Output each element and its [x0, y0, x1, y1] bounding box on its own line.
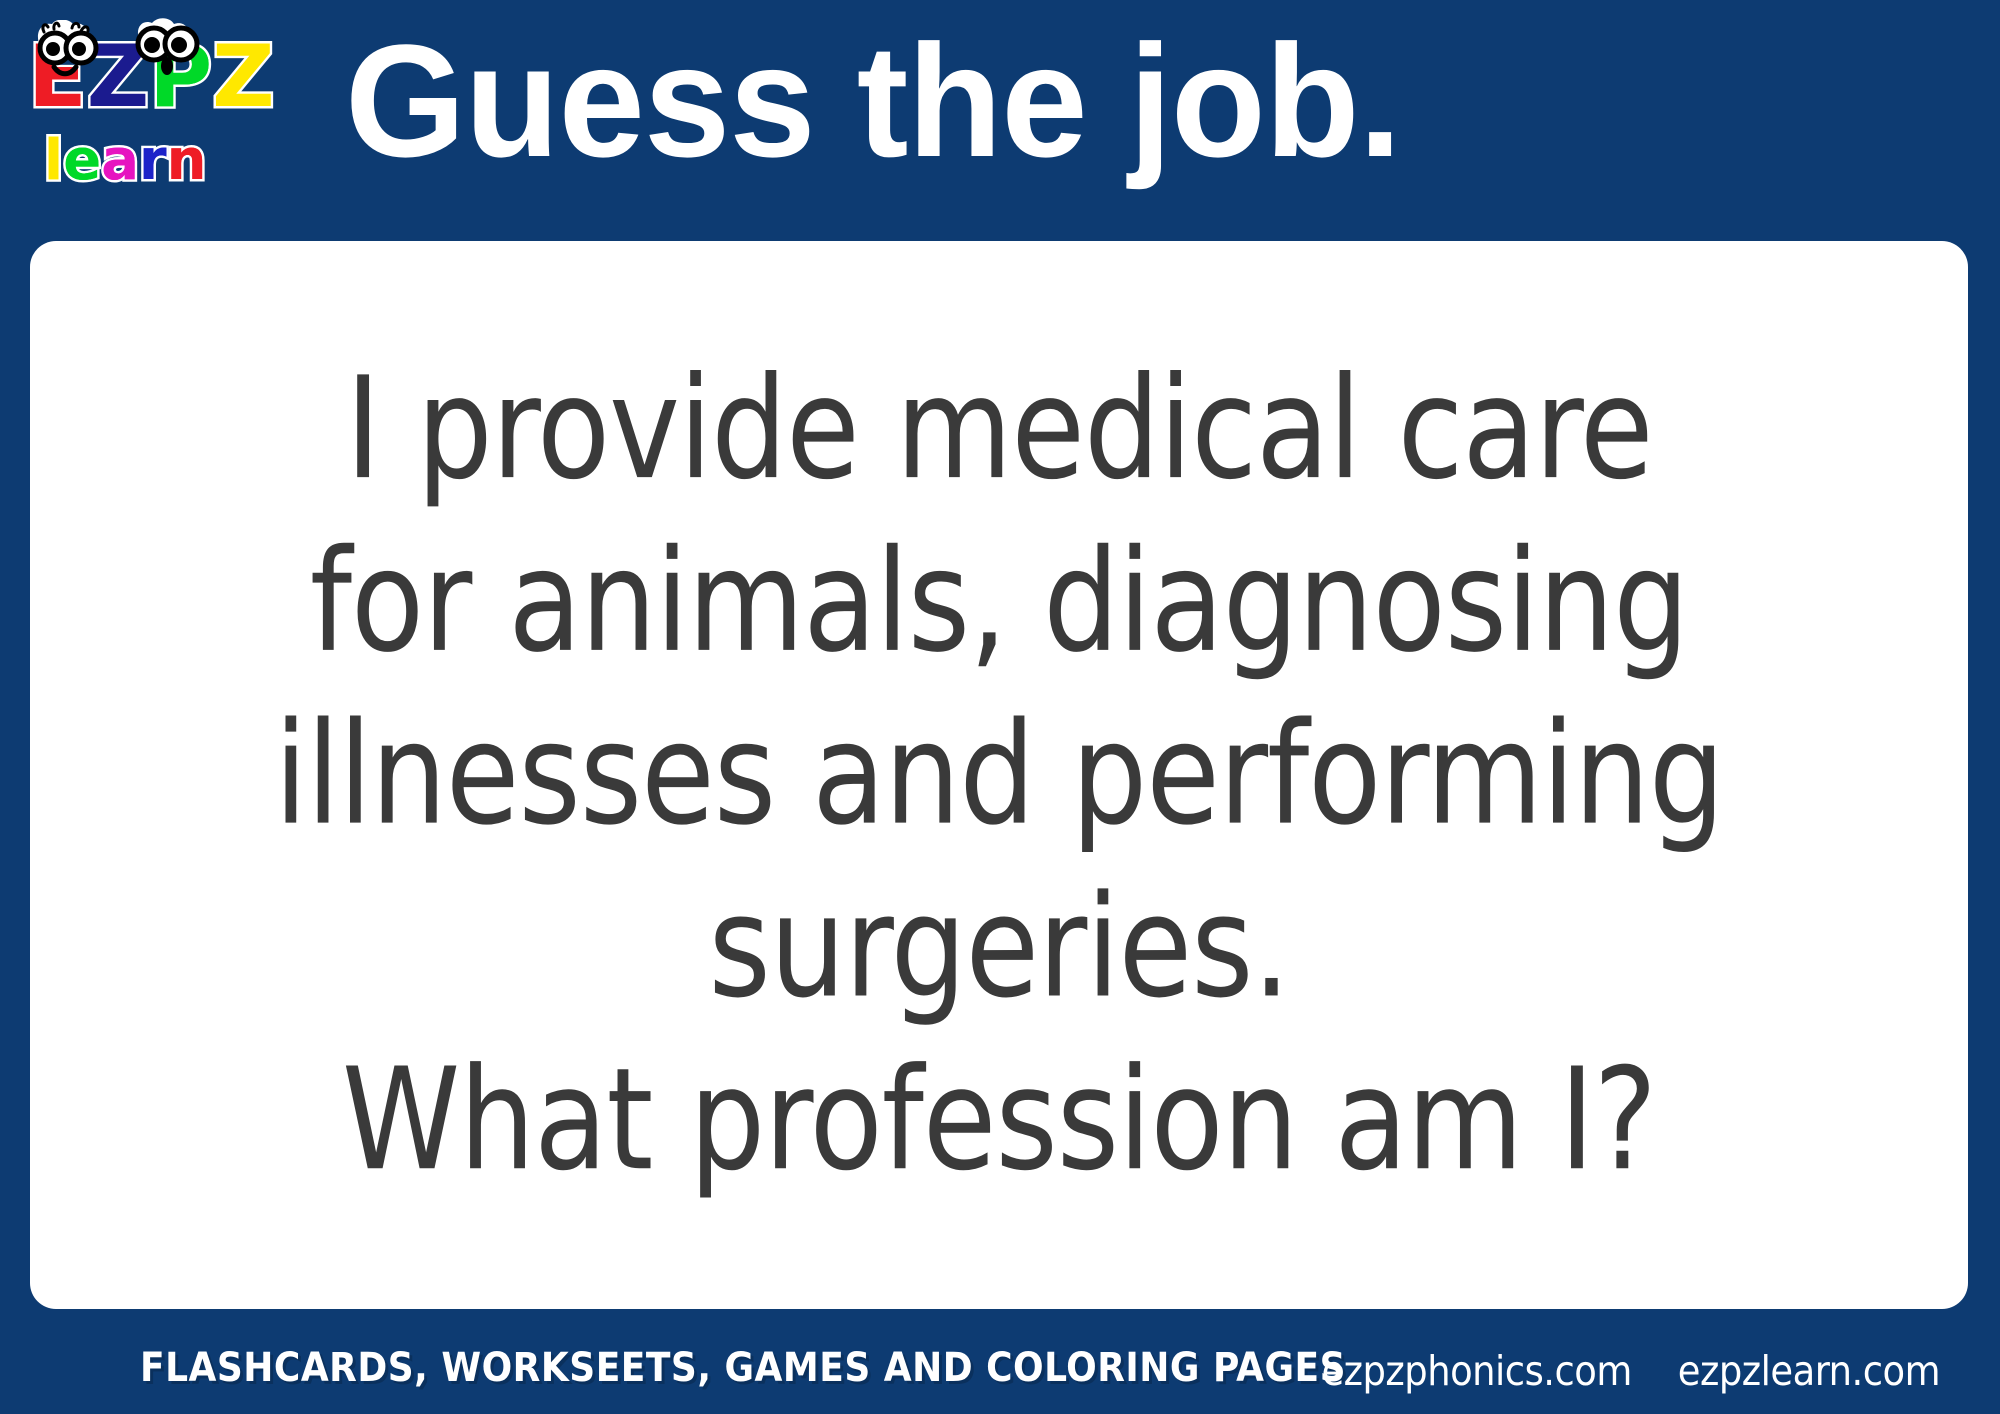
- riddle-line-3: illnesses and performing: [124, 689, 1874, 862]
- logo-line-learn: l e a r n: [44, 136, 206, 185]
- logo-letter-l: l: [44, 136, 63, 185]
- logo-face-left-icon: [34, 20, 112, 82]
- flashcard-root: E Z P Z: [0, 0, 2000, 1414]
- logo-letter-a: a: [101, 136, 139, 185]
- riddle-line-2: for animals, diagnosing: [124, 516, 1874, 689]
- riddle-line-5: What profession am I?: [124, 1034, 1874, 1207]
- riddle-text: I provide medical care for animals, diag…: [104, 343, 1894, 1207]
- page-title: Guess the job.: [345, 8, 1703, 193]
- prompt-card: I provide medical care for animals, diag…: [30, 241, 1968, 1309]
- riddle-line-1: I provide medical care: [124, 343, 1874, 516]
- logo-letter-n: n: [167, 136, 207, 185]
- logo-letter-r: r: [139, 136, 167, 185]
- footer-tagline: FLASHCARDS, WORKSEETS, GAMES AND COLORIN…: [140, 1345, 1346, 1391]
- footer-link-ezpzphonics[interactable]: ezpzphonics.com: [1321, 1347, 1631, 1395]
- logo-letter-e2: e: [63, 136, 101, 185]
- footer-link-ezpzlearn[interactable]: ezpzlearn.com: [1678, 1347, 1940, 1395]
- riddle-line-4: surgeries.: [124, 861, 1874, 1034]
- logo-letter-z2: Z: [212, 40, 274, 116]
- ezpz-learn-logo[interactable]: E Z P Z: [28, 18, 243, 193]
- footer-link-group: ezpzphonics.com ezpzlearn.com: [1321, 1347, 1940, 1395]
- header-bar: E Z P Z: [0, 0, 2000, 240]
- footer-bar: FLASHCARDS, WORKSEETS, GAMES AND COLORIN…: [0, 1309, 2000, 1414]
- logo-face-right-icon: [132, 18, 210, 80]
